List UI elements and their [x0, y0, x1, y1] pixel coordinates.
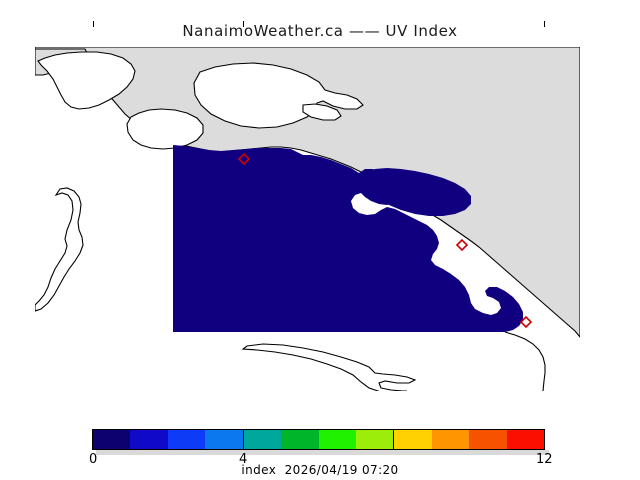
colorbar-segment-11-12: [507, 430, 544, 449]
colorbar-segment-6-7: [319, 430, 356, 449]
colorbar-segment-9-10: [432, 430, 469, 449]
colorbar-shadow: [96, 450, 549, 455]
colorbar-segments[interactable]: [92, 429, 545, 450]
colorbar-segment-10-11: [469, 430, 506, 449]
colorbar-tick-0: [93, 21, 94, 27]
colorbar-segment-2-3: [168, 430, 205, 449]
colorbar-segment-5-6: [281, 430, 318, 449]
colorbar-tick-4: [243, 21, 244, 27]
colorbar-segment-7-8: [356, 430, 393, 449]
colorbar-segment-1-2: [130, 430, 167, 449]
colorbar: [92, 429, 545, 450]
map-canvas: [35, 47, 580, 391]
water-inlet-central: [127, 109, 203, 149]
colorbar-caption: index 2026/04/19 07:20: [0, 463, 640, 477]
uv-index-map-page: NanaimoWeather.ca —— UV Index: [0, 0, 640, 480]
colorbar-segment-3-4: [205, 430, 242, 449]
colorbar-segment-0-1: [93, 430, 130, 449]
map-plot-area: [35, 47, 580, 391]
colorbar-segment-4-5: [243, 430, 281, 449]
colorbar-tick-12: [544, 21, 545, 27]
colorbar-segment-8-9: [393, 430, 431, 449]
